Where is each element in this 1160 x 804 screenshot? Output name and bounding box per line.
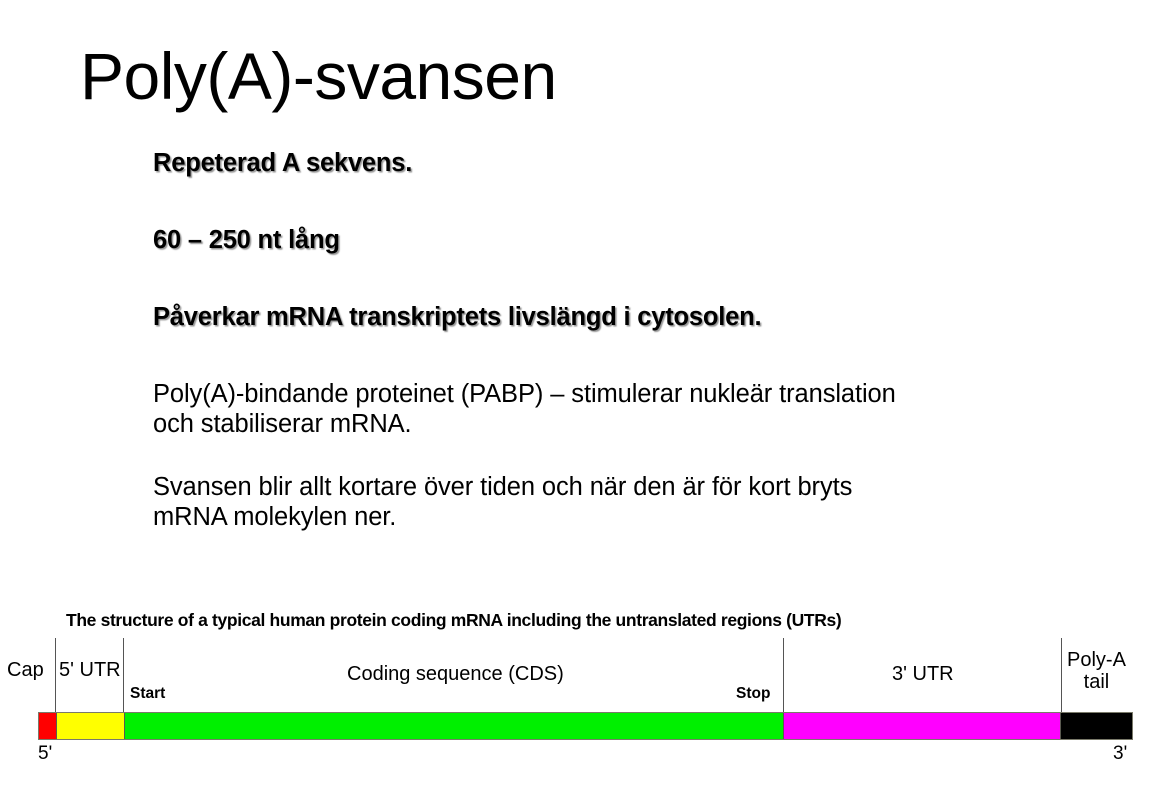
mrna-structure-figure: The structure of a typical human protein…	[0, 598, 1160, 778]
label-5-utr: 5' UTR	[59, 660, 121, 681]
body-line-6: Svansen blir allt kortare över tiden och…	[153, 472, 1053, 502]
body-line-2: 60 – 250 nt lång	[153, 225, 1053, 255]
segment-5-utr	[56, 713, 124, 739]
segment-3-utr	[783, 713, 1061, 739]
tick-line-stop-codon	[783, 638, 784, 712]
body-line-1: Repeterad A sekvens.	[153, 148, 1053, 178]
segment-divider-3utr-polya	[1060, 713, 1061, 739]
label-3-utr: 3' UTR	[892, 664, 954, 685]
segment-divider-cap-5utr	[56, 713, 57, 739]
body-line-7: mRNA molekylen ner.	[153, 502, 1053, 532]
label-polya-tail-line1: Poly-A	[1067, 650, 1126, 672]
figure-caption: The structure of a typical human protein…	[66, 610, 841, 631]
label-start-codon: Start	[130, 686, 165, 702]
segment-polya	[1060, 713, 1132, 739]
label-coding-sequence: Coding sequence (CDS)	[347, 664, 564, 685]
segment-divider-5utr-cds	[124, 713, 125, 739]
text-spacer	[153, 332, 1053, 379]
segment-divider-cds-3utr	[783, 713, 784, 739]
text-spacer	[153, 178, 1053, 225]
text-spacer	[153, 255, 1053, 302]
label-5-prime-end: 5'	[38, 743, 52, 765]
segment-cds	[124, 713, 783, 739]
text-spacer	[153, 439, 1053, 472]
mrna-bar	[38, 712, 1133, 740]
label-3-prime-end: 3'	[1113, 743, 1127, 765]
segment-cap	[39, 713, 56, 739]
body-line-3: Påverkar mRNA transkriptets livslängd i …	[153, 302, 1053, 332]
body-line-5: och stabiliserar mRNA.	[153, 409, 1053, 439]
tick-line-start-codon	[123, 638, 124, 712]
page-title: Poly(A)-svansen	[80, 42, 557, 112]
label-polya-tail: Poly-A tail	[1067, 650, 1126, 693]
label-polya-tail-line2: tail	[1067, 672, 1126, 694]
body-line-4: Poly(A)-bindande proteinet (PABP) – stim…	[153, 379, 1053, 409]
tick-line-cap-boundary	[55, 638, 56, 712]
body-text-block: Repeterad A sekvens. 60 – 250 nt lång På…	[153, 148, 1053, 532]
tick-line-polya-boundary	[1061, 638, 1062, 712]
label-stop-codon: Stop	[736, 686, 770, 702]
label-cap: Cap	[7, 660, 44, 681]
